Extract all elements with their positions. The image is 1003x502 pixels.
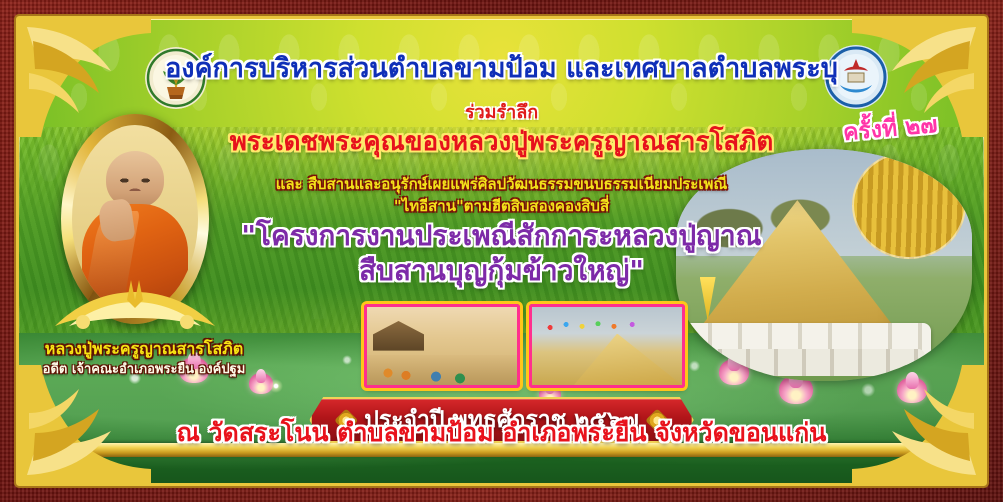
lotus-flower (249, 373, 273, 394)
honoree-line: พระเดชพระคุณของหลวงปู่พระครูญาณสารโสภิต (19, 129, 984, 155)
monk-role-caption: อดีต เจ้าคณะอำเภอพระยืน องค์ปฐม (19, 363, 269, 376)
remember-line: ร่วมรำลึก (19, 104, 984, 122)
purpose-line-2: "ไทอีสาน"ตามฮีตสิบสองคองสิบสี่ (19, 199, 984, 214)
organization-title: องค์การบริหารส่วนตำบลขามป้อม และเทศบาลตำ… (19, 55, 984, 82)
project-title-line-1: "โครงการงานประเพณีสักการะหลวงปู่ญาณ (19, 222, 984, 250)
project-title-line-2: สืบสานบุญกุ้มข้าวใหญ่" (19, 257, 984, 285)
venue-line: ณ วัดสระโนน ตำบลขามป้อม อำเภอพระยืน จังห… (19, 420, 984, 445)
lotus-flower (897, 377, 927, 403)
photo-thumbnail (364, 304, 520, 388)
photo-thumbnail (529, 304, 685, 388)
banner-inner-panel: องค์การบริหารส่วนตำบลขามป้อม และเทศบาลตำ… (16, 16, 987, 486)
event-banner: องค์การบริหารส่วนตำบลขามป้อม และเทศบาลตำ… (0, 0, 1003, 502)
rice-sack-row-lower (694, 349, 925, 377)
purpose-line-1: และ สืบสานและอนุรักษ์เผยแพร่ศิลปวัฒนธรรม… (19, 177, 984, 192)
monk-name-caption: หลวงปู่พระครูญาณสารโสภิต (19, 341, 269, 357)
